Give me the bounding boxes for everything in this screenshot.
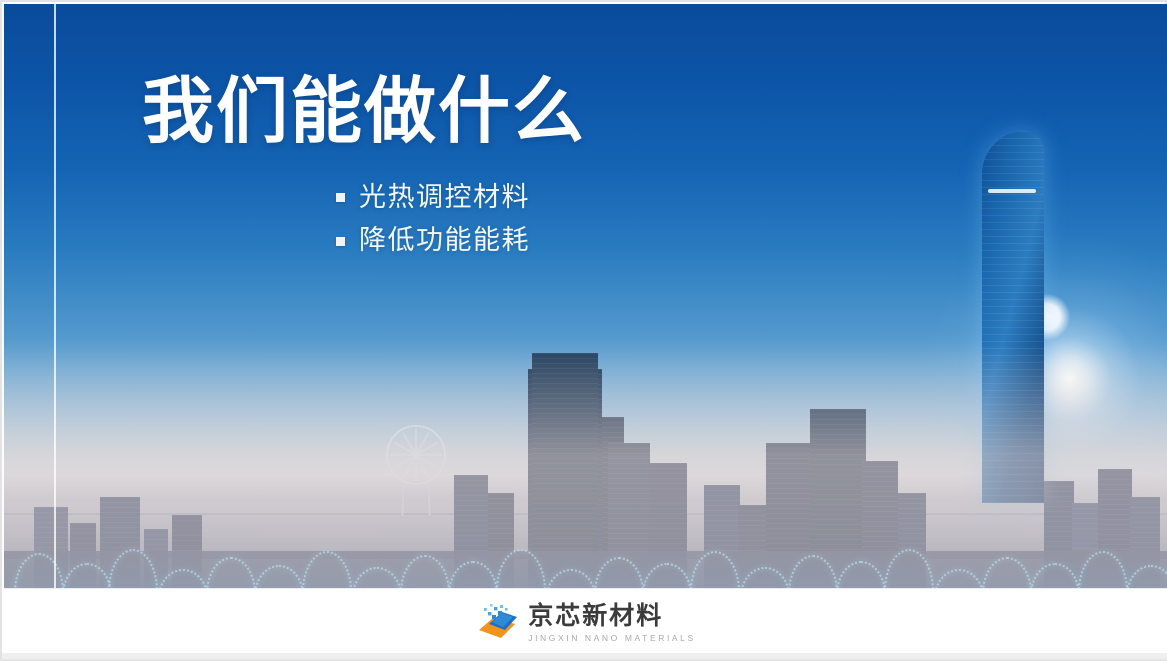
- tower-light-band: [988, 189, 1036, 193]
- brand-name-en: JINGXIN NANO MATERIALS: [528, 633, 696, 643]
- square-bullet-icon: [336, 193, 345, 202]
- slide-footer: 京芯新材料 JINGXIN NANO MATERIALS: [4, 588, 1167, 657]
- list-item-label: 光热调控材料: [359, 176, 530, 220]
- signature-skyscraper: [982, 131, 1044, 503]
- city-skyline: [4, 293, 1167, 593]
- brand-logo-text: 京芯新材料 JINGXIN NANO MATERIALS: [528, 603, 696, 642]
- presentation-slide: 我们能做什么 光热调控材料 降低功能能耗: [0, 0, 1167, 661]
- list-item: 降低功能能耗: [336, 219, 782, 263]
- list-item-label: 降低功能能耗: [359, 219, 530, 263]
- ferris-wheel-support: [401, 484, 430, 516]
- bullet-list: 光热调控材料 降低功能能耗: [142, 176, 782, 263]
- particle-network-overlay: [4, 521, 1167, 593]
- brand-logo: 京芯新材料 JINGXIN NANO MATERIALS: [475, 603, 696, 642]
- hero-background-image: 我们能做什么 光热调控材料 降低功能能耗: [4, 4, 1167, 593]
- brand-name-cn: 京芯新材料: [528, 603, 696, 629]
- ferris-wheel-icon: [386, 425, 446, 485]
- left-accent-rule: [54, 4, 56, 593]
- bottom-edge-strip: [2, 653, 1167, 659]
- jingxin-logo-icon: [475, 604, 517, 642]
- square-bullet-icon: [336, 237, 345, 246]
- list-item: 光热调控材料: [336, 176, 782, 220]
- headline-block: 我们能做什么 光热调控材料 降低功能能耗: [142, 74, 782, 263]
- page-title: 我们能做什么: [142, 74, 782, 152]
